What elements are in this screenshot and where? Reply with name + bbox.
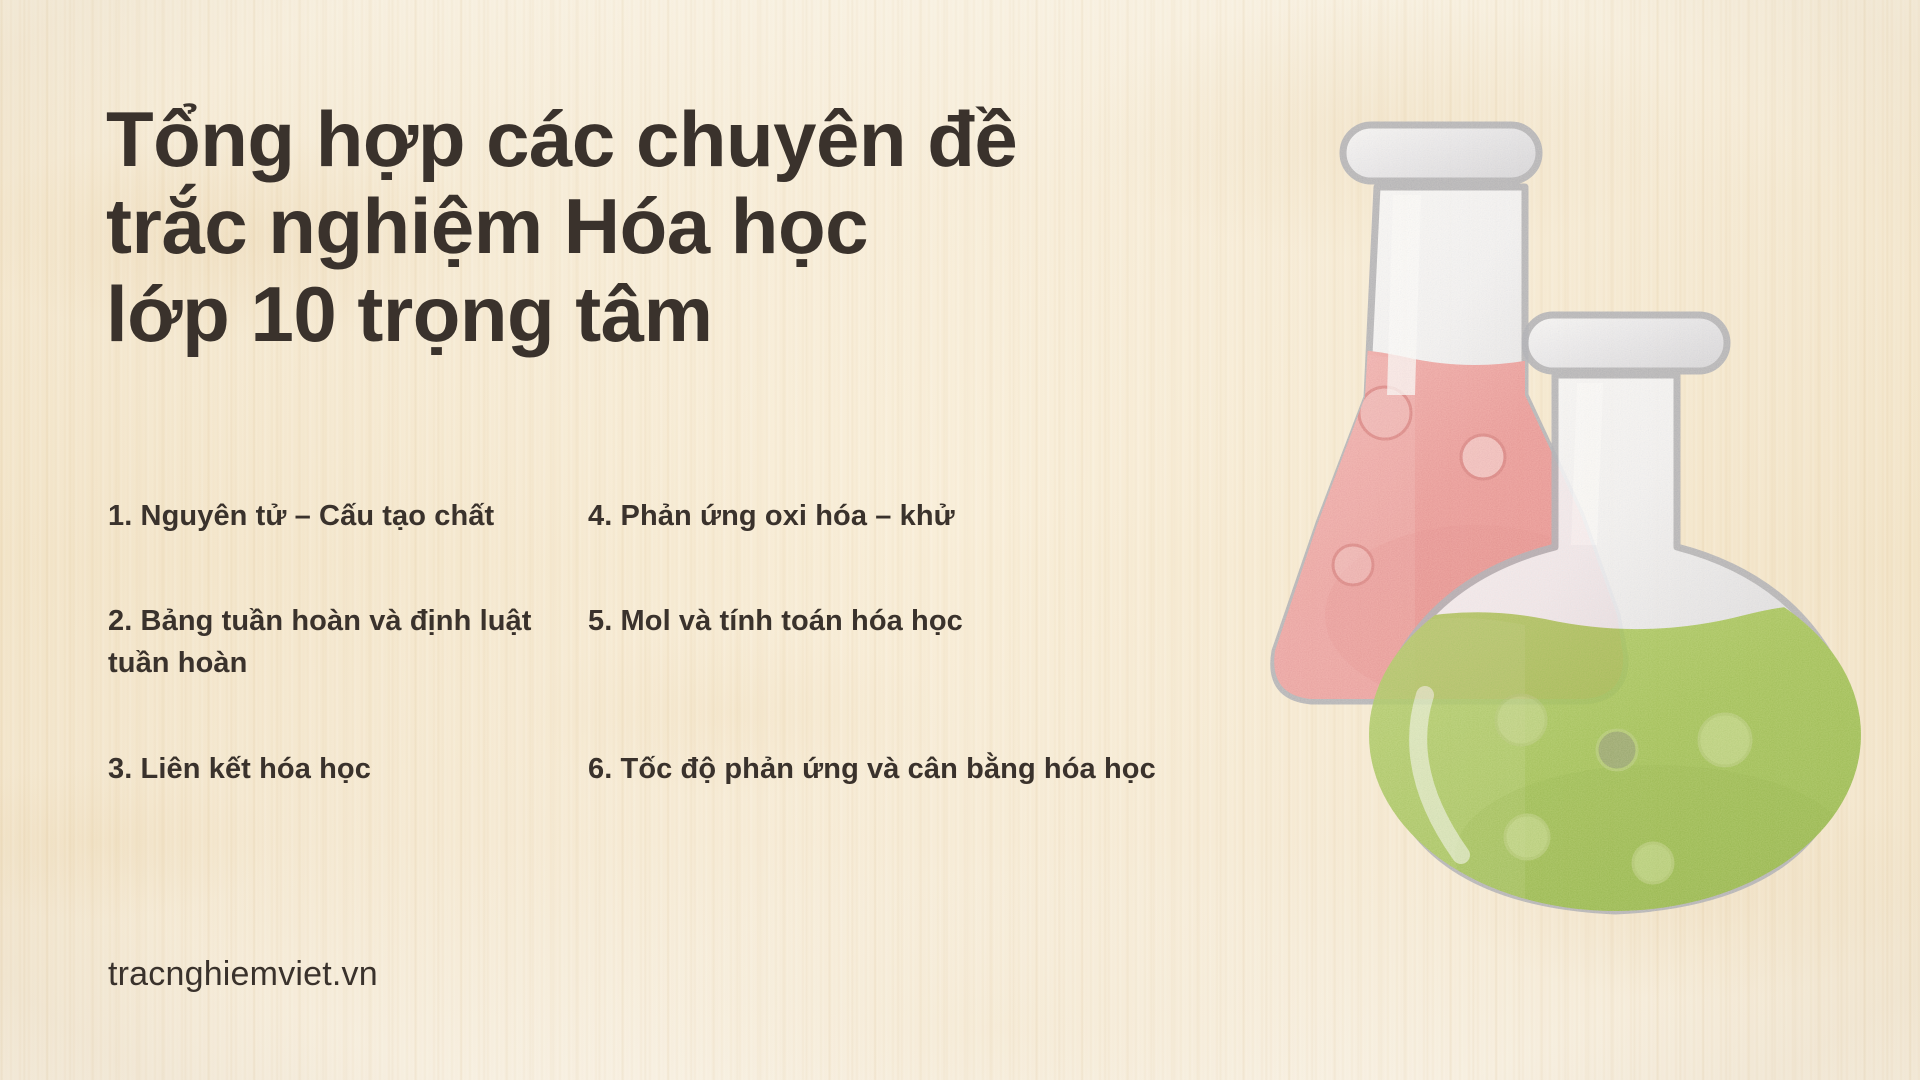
list-item-topic-5: 5. Mol và tính toán hóa học [588,600,963,642]
flasks-illustration [1225,95,1920,955]
poster-content: Tổng hợp các chuyên đề trắc nghiệm Hóa h… [0,0,1920,1080]
flask-rim-front [1525,315,1727,371]
website-url: tracnghiemviet.vn [108,955,378,994]
list-item-topic-3: 3. Liên kết hóa học [108,748,371,790]
poster-canvas: Tổng hợp các chuyên đề trắc nghiệm Hóa h… [0,0,1920,1080]
list-item-topic-1: 1. Nguyên tử – Cấu tạo chất [108,495,494,537]
list-item-topic-4: 4. Phản ứng oxi hóa – khử [588,495,955,537]
list-item-topic-6: 6. Tốc độ phản ứng và cân bằng hóa học [588,748,1156,790]
page-title: Tổng hợp các chuyên đề trắc nghiệm Hóa h… [106,96,1166,358]
list-item-topic-2: 2. Bảng tuần hoàn và định luật tuần hoàn [108,600,578,685]
flask-rim-back [1343,125,1539,181]
